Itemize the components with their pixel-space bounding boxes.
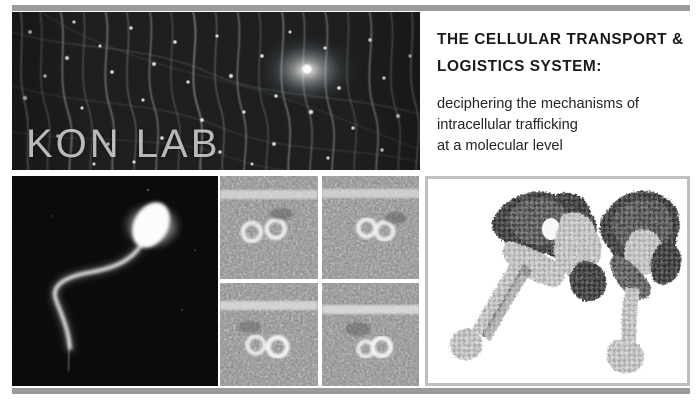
subtitle-line-3: at a molecular level — [437, 136, 692, 157]
headline-block: THE CELLULAR TRANSPORT & LOGISTICS SYSTE… — [437, 26, 692, 157]
page-title-line-1: THE CELLULAR TRANSPORT & — [437, 26, 692, 53]
em-tile-4-graphic — [322, 283, 420, 386]
em-tile-1 — [220, 176, 318, 279]
dynein-structure-graphic — [428, 179, 687, 383]
subtitle-line-2: intracellular trafficking — [437, 115, 692, 136]
sperm-cell-image — [12, 176, 218, 386]
em-montage — [220, 176, 419, 386]
top-divider-rule — [12, 5, 690, 11]
kon-lab-watermark: KON LAB — [26, 124, 220, 164]
sperm-cell-graphic — [12, 176, 218, 386]
em-tile-1-graphic — [220, 176, 318, 279]
em-tile-3-graphic — [220, 283, 318, 386]
subtitle-line-1: deciphering the mechanisms of — [437, 94, 692, 115]
em-tile-4 — [322, 283, 420, 386]
em-tile-2-graphic — [322, 176, 420, 279]
bottom-divider-rule — [12, 388, 690, 394]
em-tile-2 — [322, 176, 420, 279]
page-title-line-2: LOGISTICS SYSTEM: — [437, 53, 692, 80]
protein-structure-image — [425, 176, 690, 386]
hero-microtubule-image: KON LAB — [12, 12, 420, 170]
subtitle-block: deciphering the mechanisms of intracellu… — [437, 94, 692, 157]
image-strip — [12, 176, 690, 386]
lab-banner: KON LAB THE CELLULAR TRANSPORT & LOGISTI… — [0, 0, 700, 404]
em-tile-3 — [220, 283, 318, 386]
